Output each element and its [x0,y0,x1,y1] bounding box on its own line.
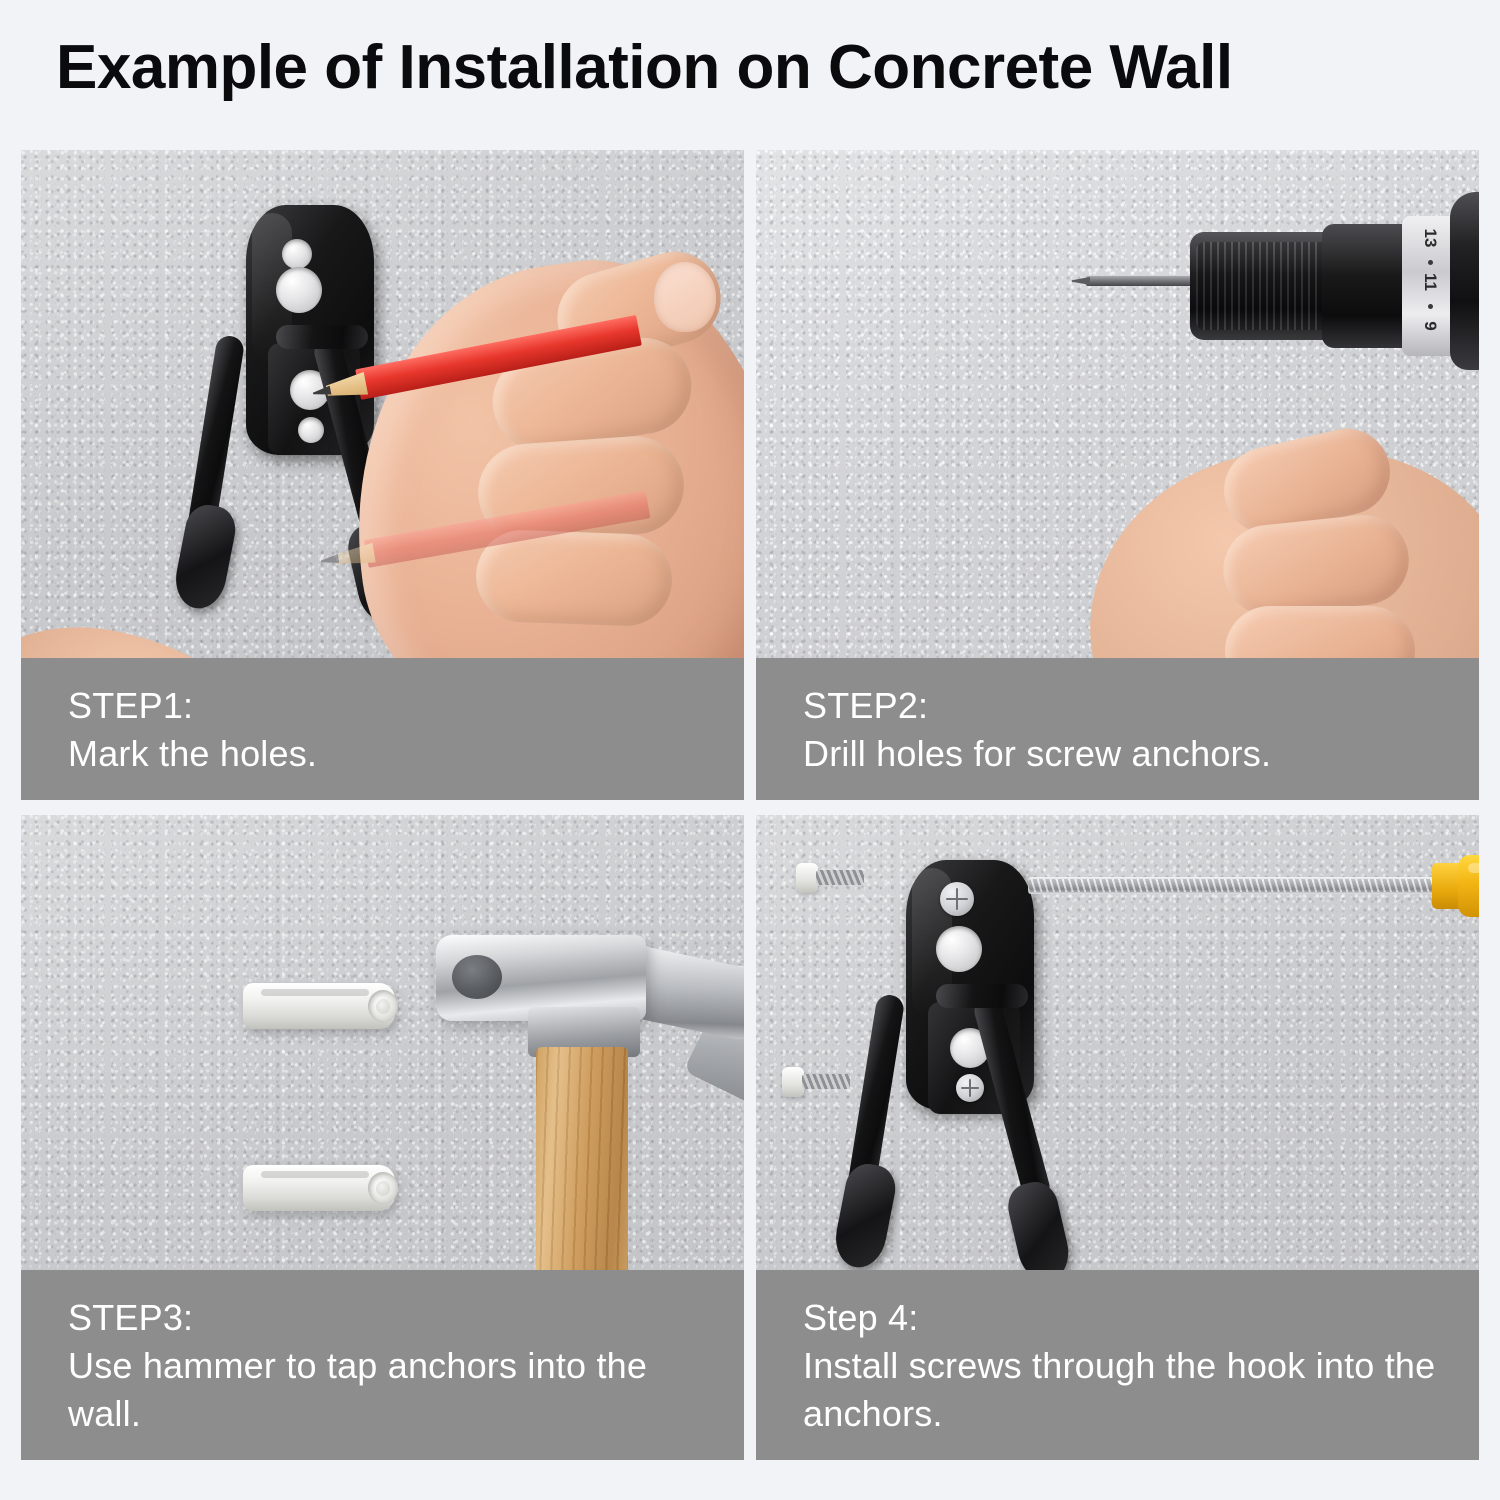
step-caption-2: STEP2: Drill holes for screw anchors. [756,658,1479,800]
screwdriver-illustration [1028,877,1479,957]
step-text: Drill holes for screw anchors. [803,730,1479,778]
anchor-cap [796,863,818,893]
step-caption-1: STEP1: Mark the holes. [21,658,744,800]
hook-crossbar [936,984,1028,1008]
plastic-anchor-bottom [782,1067,848,1097]
anchor-cap [782,1067,804,1097]
pencil-tip [312,386,331,398]
step-panel-1: STEP1: Mark the holes. [21,150,744,800]
screwdriver-shaft [1028,877,1448,894]
drill-body [1450,192,1479,370]
step-text: Install screws through the hook into the… [803,1342,1479,1438]
hook-hole-upper-large [276,267,322,313]
plastic-anchor-top [796,863,862,893]
step-label: STEP2: [803,682,1479,730]
anchor-mouth [368,1172,398,1204]
torque-collar-number: 11 [1420,273,1440,291]
thumbnail [654,262,716,332]
drill-chuck [1190,232,1340,340]
anchor-mouth [368,990,398,1022]
drill-bit [1086,276,1204,286]
hook-crossbar [276,325,368,349]
torque-collar-number: 13 [1420,229,1440,248]
step-label: STEP3: [68,1294,744,1342]
step-label: STEP1: [68,682,744,730]
step-label: Step 4: [803,1294,1479,1342]
step-text: Mark the holes. [68,730,744,778]
torque-collar-dot [1428,304,1433,309]
hook-hole-upper-large [936,926,982,972]
page-title: Example of Installation on Concrete Wall [56,32,1456,104]
step-panel-2: 13 11 9 STEP2: Drill holes for screw anc… [756,150,1479,800]
torque-collar-number: 9 [1420,321,1440,330]
screw-thread [802,1074,850,1089]
screwdriver-handle [1458,855,1479,917]
step-panel-4: Step 4: Install screws through the hook … [756,815,1479,1460]
plastic-anchor-top [243,983,395,1029]
step-panel-3: STEP3: Use hammer to tap anchors into th… [21,815,744,1460]
torque-collar-dot [1428,260,1433,265]
plastic-anchor-bottom [243,1165,395,1211]
hook-hole-top [282,239,312,269]
installation-steps-grid: STEP1: Mark the holes. 13 11 9 [21,150,1479,1460]
mounting-screw-bottom [956,1074,984,1102]
screw-thread [816,870,864,885]
step-caption-3: STEP3: Use hammer to tap anchors into th… [21,1270,744,1460]
step-caption-4: Step 4: Install screws through the hook … [756,1270,1479,1460]
hook-hole-bottom [298,417,324,443]
mounting-screw-top [940,882,974,916]
step-text: Use hammer to tap anchors into the wall. [68,1342,744,1438]
pencil-tip [320,554,339,566]
